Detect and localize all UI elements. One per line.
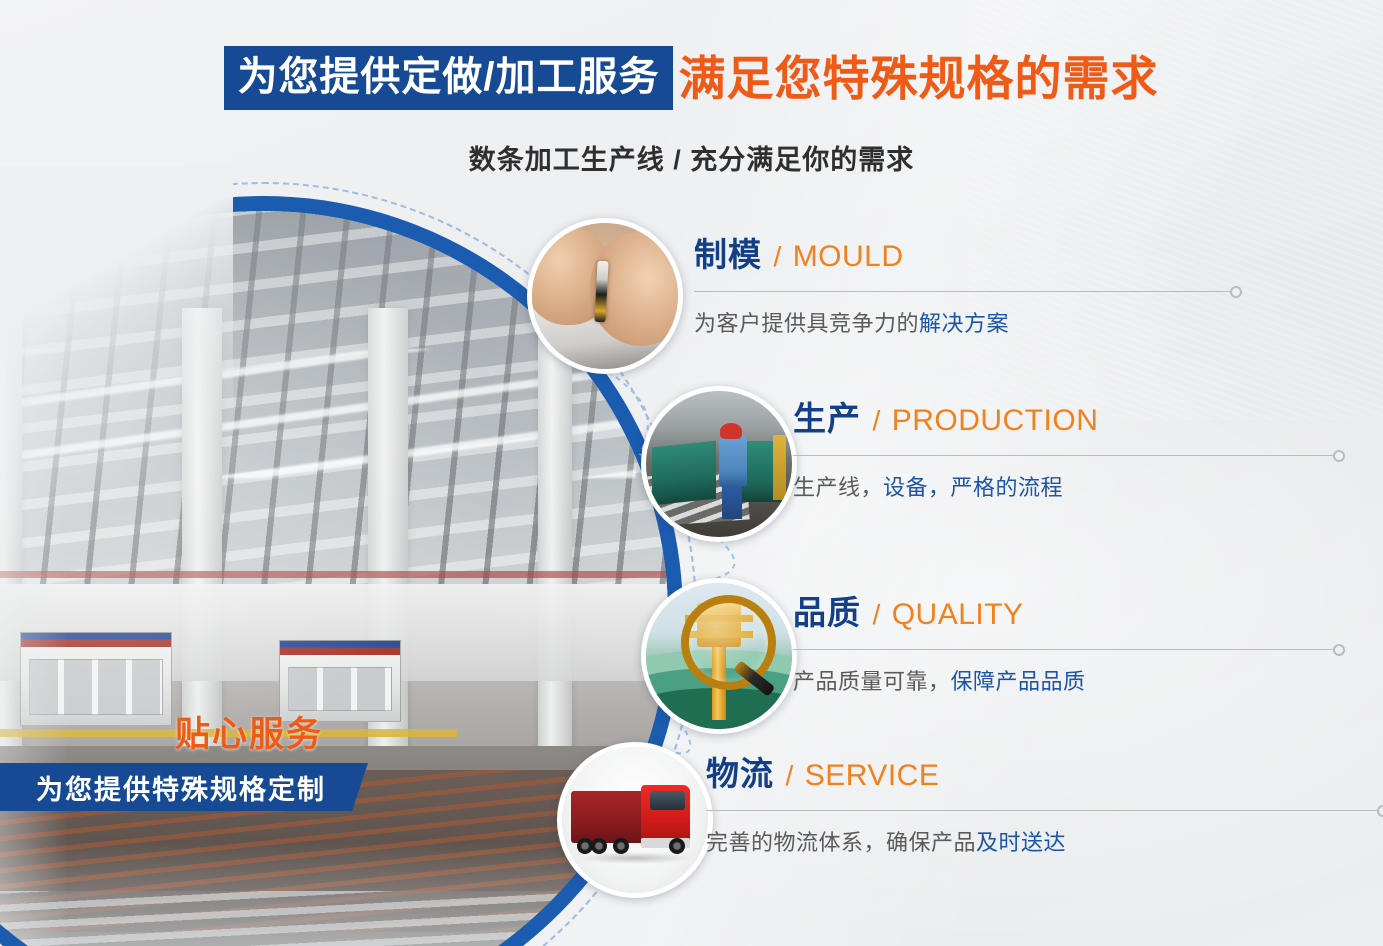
service-overlay-title: 贴心服务 [175,706,323,757]
drafting-hands-icon-art [532,223,678,369]
feature-description-plain: 为客户提供具竞争力的 [694,311,919,336]
header-headline: 满足您特殊规格的需求 [679,55,1159,102]
feature-description: 为客户提供具竞争力的解决方案 [694,306,1231,338]
feature-title-cn: 品质 [793,594,861,631]
divider-end-dot [1230,286,1242,298]
feature-divider [793,455,1334,456]
photo-steel-bars [0,891,668,946]
feature-title-cn: 物流 [706,755,774,792]
truck-trailer [571,791,644,844]
feature-divider [694,291,1231,292]
truck-wheel [591,838,607,854]
feature-item-service[interactable]: 物流 / SERVICE 完善的物流体系，确保产品及时送达 [706,757,1378,857]
feature-separator: / [872,405,880,436]
feature-title-en: PRODUCTION [892,404,1099,437]
header: 为您提供定做/加工服务 满足您特殊规格的需求 数条加工生产线 / 充分满足你的需… [0,46,1383,177]
feature-heading: 生产 / PRODUCTION [793,402,1334,436]
magnifier-lens [681,595,776,690]
feature-description-highlight: 设备，严格的流程 [883,475,1063,500]
feature-description-highlight: 解决方案 [919,311,1009,336]
red-hard-hat [720,423,742,439]
feature-description-highlight: 及时送达 [976,830,1066,855]
magnifier-gauge-icon[interactable] [641,578,797,734]
feature-item-quality[interactable]: 品质 / QUALITY 产品质量可靠，保障产品品质 [793,596,1334,696]
truck-shadow [577,852,694,864]
truck-wheel [613,838,629,854]
feature-separator: / [872,599,880,630]
photo-column [538,308,572,778]
feature-item-production[interactable]: 生产 / PRODUCTION 生产线，设备，严格的流程 [793,402,1334,502]
red-truck-icon[interactable] [557,742,713,898]
feature-description: 生产线，设备，严格的流程 [793,470,1334,502]
yellow-post [773,435,786,501]
feature-description: 产品质量可靠，保障产品品质 [793,664,1334,696]
feature-description: 完善的物流体系，确保产品及时送达 [706,825,1378,857]
feature-title-en: SERVICE [805,759,940,792]
photo-control-booth [20,632,172,726]
truck-windshield [650,791,685,810]
header-subheadline: 数条加工生产线 / 充分满足你的需求 [0,138,1383,177]
worker-body [719,435,747,488]
feature-title-cn: 生产 [793,400,861,437]
feature-title-en: MOULD [793,240,904,273]
truck-wheel [669,838,685,854]
feature-title-en: QUALITY [892,598,1024,631]
red-truck-icon-art [562,747,708,893]
photo-booth-windows [288,667,392,711]
service-overlay-banner: 为您提供特殊规格定制 [0,763,368,811]
feature-heading: 制模 / MOULD [694,238,1231,272]
promo-banner: 为您提供定做/加工服务 满足您特殊规格的需求 数条加工生产线 / 充分满足你的需… [0,0,1383,946]
divider-end-dot [1333,644,1345,656]
photo-wall-stripe [0,571,668,578]
feature-heading: 品质 / QUALITY [793,596,1334,630]
magnifier-gauge-icon-art [646,583,792,729]
factory-worker-icon-art [646,391,792,537]
feature-item-mould[interactable]: 制模 / MOULD 为客户提供具竞争力的解决方案 [694,238,1231,338]
feature-divider [706,810,1378,811]
feature-divider [793,649,1334,650]
header-title-line: 为您提供定做/加工服务 满足您特殊规格的需求 [0,46,1383,110]
worker-legs [722,482,742,520]
photo-booth-windows [29,659,163,715]
feature-description-plain: 产品质量可靠， [793,669,951,694]
feature-heading: 物流 / SERVICE [706,757,1378,791]
feature-description-highlight: 保障产品品质 [951,669,1086,694]
divider-end-dot [1333,450,1345,462]
factory-worker-icon[interactable] [641,386,797,542]
drafting-hands-icon[interactable] [527,218,683,374]
feature-separator: / [785,760,793,791]
feature-separator: / [773,241,781,272]
photo-column [0,308,22,778]
feature-title-cn: 制模 [694,236,762,273]
header-badge: 为您提供定做/加工服务 [224,46,672,110]
machine-left [652,440,716,505]
divider-end-dot [1377,805,1383,817]
feature-description-plain: 完善的物流体系，确保产品 [706,830,976,855]
feature-description-plain: 生产线， [793,475,883,500]
